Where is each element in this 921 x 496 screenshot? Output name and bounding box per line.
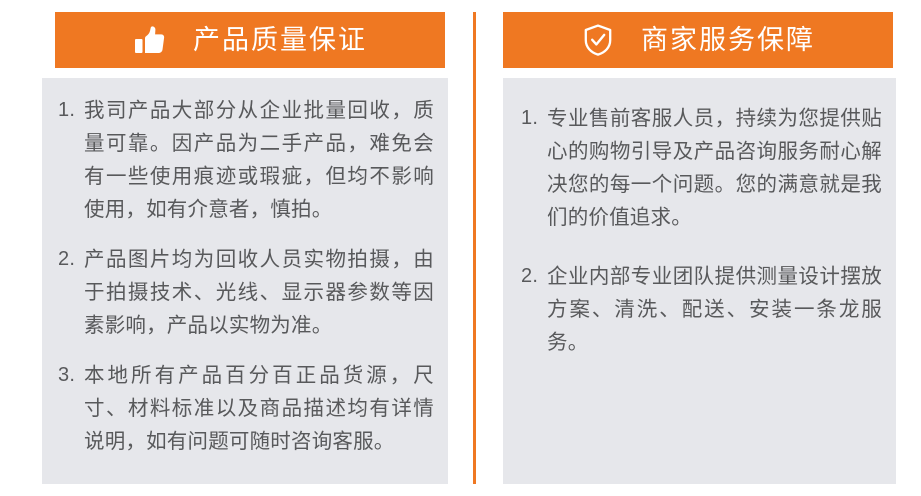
header-bar-product-quality-guarantee: 产品质量保证	[55, 12, 445, 68]
header-title: 产品质量保证	[193, 27, 367, 54]
thumbs-up-icon	[133, 23, 167, 57]
header-bar-merchant-service-guarantee: 商家服务保障	[503, 12, 893, 68]
promo-guarantee-banner: 产品质量保证 1. 我司产品大部分从企业批量回收，质量可靠。因产品为二手产品，难…	[0, 0, 921, 496]
shield-check-icon	[581, 23, 615, 57]
column-merchant-service-guarantee: 商家服务保障 1. 专业售前客服人员，持续为您提供贴心的购物引导及产品咨询服务耐…	[503, 0, 896, 496]
panel-merchant-service-guarantee: 1. 专业售前客服人员，持续为您提供贴心的购物引导及产品咨询服务耐心解决您的每一…	[503, 78, 896, 484]
list-item-text: 专业售前客服人员，持续为您提供贴心的购物引导及产品咨询服务耐心解决您的每一个问题…	[547, 102, 882, 234]
list-item: 1. 我司产品大部分从企业批量回收，质量可靠。因产品为二手产品，难免会有一些使用…	[58, 94, 434, 226]
list-item-marker: 1.	[521, 102, 547, 135]
list-item: 2. 产品图片均为回收人员实物拍摄，由于拍摄技术、光线、显示器参数等因素影响，产…	[58, 243, 434, 342]
column-divider	[473, 12, 476, 484]
list-item-marker: 2.	[58, 243, 84, 276]
guarantee-list: 1. 专业售前客服人员，持续为您提供贴心的购物引导及产品咨询服务耐心解决您的每一…	[503, 78, 896, 359]
list-item-text: 产品图片均为回收人员实物拍摄，由于拍摄技术、光线、显示器参数等因素影响，产品以实…	[84, 243, 434, 342]
panel-product-quality-guarantee: 1. 我司产品大部分从企业批量回收，质量可靠。因产品为二手产品，难免会有一些使用…	[42, 78, 448, 484]
list-item-marker: 3.	[58, 359, 84, 392]
list-item-marker: 1.	[58, 94, 84, 127]
list-item-text: 我司产品大部分从企业批量回收，质量可靠。因产品为二手产品，难免会有一些使用痕迹或…	[84, 94, 434, 226]
list-item: 2. 企业内部专业团队提供测量设计摆放方案、清洗、配送、安装一条龙服务。	[521, 260, 882, 359]
list-item-text: 本地所有产品百分百正品货源，尺寸、材料标准以及商品描述均有详情说明，如有问题可随…	[84, 359, 434, 458]
list-item: 3. 本地所有产品百分百正品货源，尺寸、材料标准以及商品描述均有详情说明，如有问…	[58, 359, 434, 458]
guarantee-list: 1. 我司产品大部分从企业批量回收，质量可靠。因产品为二手产品，难免会有一些使用…	[42, 78, 448, 458]
header-title: 商家服务保障	[641, 27, 815, 54]
list-item-text: 企业内部专业团队提供测量设计摆放方案、清洗、配送、安装一条龙服务。	[547, 260, 882, 359]
list-item: 1. 专业售前客服人员，持续为您提供贴心的购物引导及产品咨询服务耐心解决您的每一…	[521, 102, 882, 234]
list-item-marker: 2.	[521, 260, 547, 293]
column-product-quality-guarantee: 产品质量保证 1. 我司产品大部分从企业批量回收，质量可靠。因产品为二手产品，难…	[42, 0, 448, 496]
